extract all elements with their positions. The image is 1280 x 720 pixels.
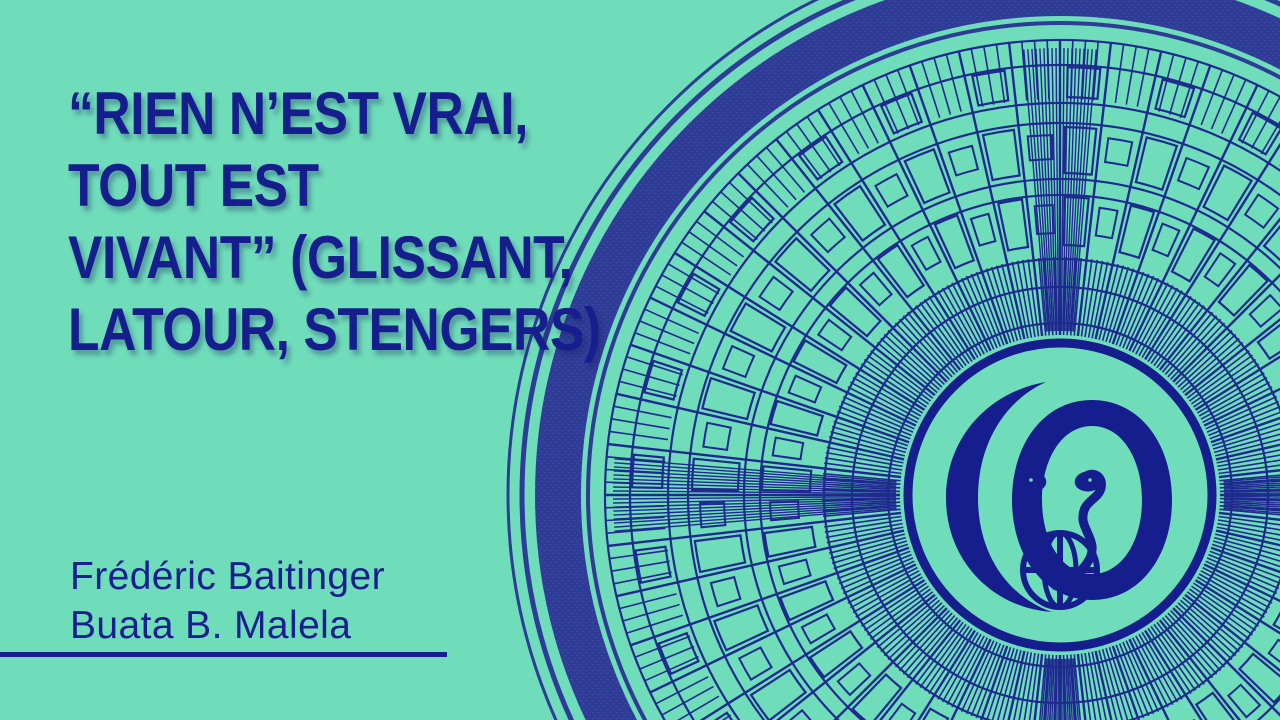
title-line-1: “RIEN N’EST VRAI, (68, 78, 532, 150)
title-line-4: LATOUR, STENGERS) (68, 294, 532, 366)
page-title: “RIEN N’EST VRAI, TOUT EST VIVANT” (GLIS… (68, 78, 608, 366)
authors: Frédéric Baitinger Buata B. Malela (70, 552, 385, 650)
author-name-1: Frédéric Baitinger (70, 552, 385, 601)
logo-medallion (908, 343, 1212, 647)
title-line-2: TOUT EST (68, 150, 532, 222)
title-slide: “RIEN N’EST VRAI, TOUT EST VIVANT” (GLIS… (0, 0, 1280, 720)
title-line-3: VIVANT” (GLISSANT, (68, 222, 532, 294)
authors-underline-rule (0, 652, 447, 657)
author-name-2: Buata B. Malela (70, 601, 385, 650)
